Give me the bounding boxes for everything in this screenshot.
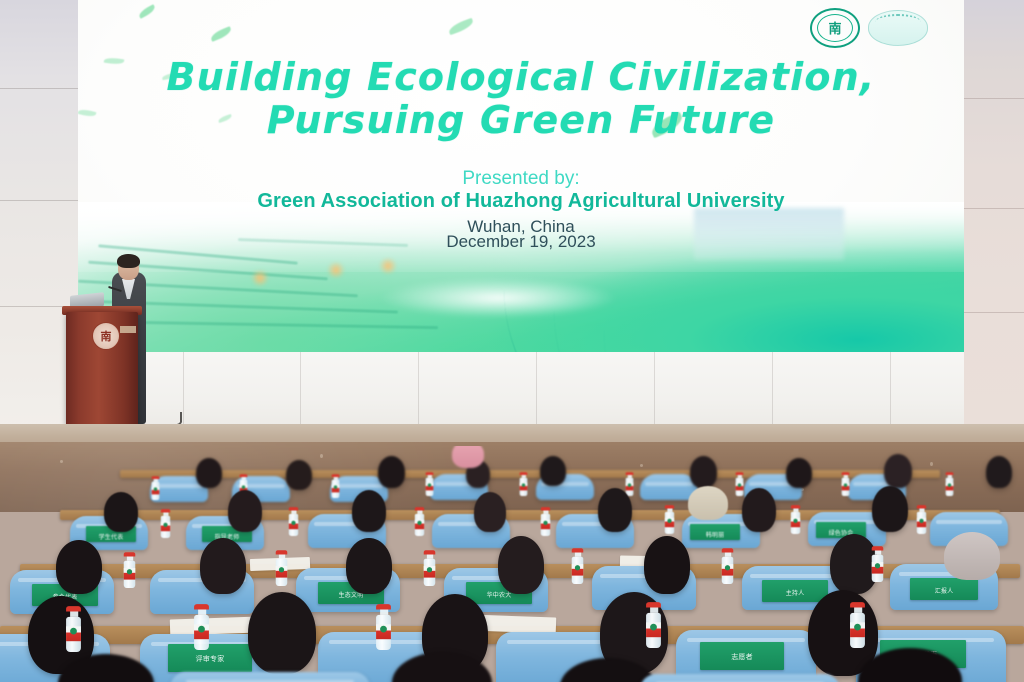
placard-label: 学生代表 bbox=[86, 532, 136, 541]
grey-knit-hat bbox=[944, 532, 1000, 580]
audience-head bbox=[474, 492, 506, 532]
under-screen-wall bbox=[78, 352, 964, 430]
audience-head bbox=[644, 536, 690, 594]
audience-head bbox=[228, 490, 262, 532]
handout-paper bbox=[170, 616, 261, 635]
placard-label: 韩明丽 bbox=[690, 530, 740, 539]
name-placard: 主持人 bbox=[762, 580, 828, 602]
water-bottle bbox=[424, 550, 436, 586]
chair-foreground bbox=[640, 674, 840, 682]
right-wall-panels bbox=[964, 0, 1024, 430]
projection-screen: Building Ecological Civilization, Pursui… bbox=[78, 0, 964, 352]
water-bottle bbox=[152, 476, 160, 500]
name-placard: 评审专家 bbox=[168, 644, 252, 672]
slide-title: Building Ecological Civilization, Pursui… bbox=[78, 56, 964, 141]
placard-label: 志愿者 bbox=[700, 652, 784, 662]
audience-head bbox=[884, 454, 912, 488]
water-bottle bbox=[572, 548, 584, 584]
placard-label: 评审专家 bbox=[168, 654, 252, 664]
water-bottle bbox=[415, 507, 424, 536]
green-association-badge-icon bbox=[868, 10, 928, 46]
seal-glyph: 南 bbox=[828, 22, 841, 35]
water-bottle bbox=[161, 509, 170, 538]
event-date: December 19, 2023 bbox=[78, 232, 964, 252]
audience-head bbox=[196, 458, 222, 488]
water-bottle bbox=[332, 474, 340, 498]
placard-label: 汇报人 bbox=[910, 586, 978, 595]
organization-name: Green Association of Huazhong Agricultur… bbox=[78, 190, 964, 213]
beige-knit-hat bbox=[688, 486, 728, 520]
name-placard: 汇报人 bbox=[910, 578, 978, 600]
audience-head bbox=[352, 490, 386, 532]
audience-head bbox=[498, 536, 544, 594]
university-seal-icon: 南 bbox=[810, 8, 860, 48]
water-bottle bbox=[66, 606, 81, 652]
audience-head bbox=[346, 538, 392, 594]
water-bottle bbox=[850, 602, 865, 648]
water-bottle bbox=[842, 472, 850, 496]
water-bottle bbox=[665, 505, 674, 534]
audience-head bbox=[378, 456, 405, 488]
water-bottle bbox=[917, 505, 926, 534]
chair-foreground bbox=[170, 672, 370, 682]
water-bottle bbox=[872, 546, 884, 582]
podium-nameplate bbox=[120, 326, 136, 333]
audience-head bbox=[986, 456, 1012, 488]
water-bottle bbox=[646, 602, 661, 648]
audience-head bbox=[56, 540, 102, 594]
audience-head bbox=[286, 460, 312, 490]
water-bottle bbox=[376, 604, 391, 650]
audience-head bbox=[690, 456, 717, 488]
name-placard: 韩明丽 bbox=[690, 524, 740, 540]
water-bottle bbox=[791, 505, 800, 534]
audience-head bbox=[540, 456, 566, 486]
pink-knit-hat bbox=[452, 446, 484, 468]
water-bottle bbox=[124, 552, 136, 588]
audience-head bbox=[200, 538, 246, 594]
auditorium-photo: Building Ecological Civilization, Pursui… bbox=[0, 0, 1024, 682]
podium-emblem-icon: 南 bbox=[92, 322, 120, 350]
water-bottle bbox=[194, 604, 209, 650]
water-bottle bbox=[626, 472, 634, 496]
audience-area: 学生代表 指导老师 韩明丽 绿色协会 bbox=[0, 446, 1024, 682]
water-bottle bbox=[289, 507, 298, 536]
water-bottle bbox=[426, 472, 434, 496]
audience-head bbox=[248, 592, 316, 674]
audience-head bbox=[598, 488, 632, 532]
name-placard: 志愿者 bbox=[700, 642, 784, 670]
audience-head bbox=[742, 488, 776, 532]
water-bottle bbox=[520, 472, 528, 496]
speaker-hair bbox=[117, 254, 140, 268]
water-bottle bbox=[722, 548, 734, 584]
water-bottle bbox=[736, 472, 744, 496]
presented-by-label: Presented by: bbox=[78, 168, 964, 190]
audience-head bbox=[872, 486, 908, 532]
audience-head bbox=[104, 492, 138, 532]
placard-label: 主持人 bbox=[762, 588, 828, 597]
water-bottle bbox=[946, 472, 954, 496]
audience-head bbox=[786, 458, 812, 488]
water-bottle bbox=[276, 550, 288, 586]
water-bottle bbox=[541, 507, 550, 536]
